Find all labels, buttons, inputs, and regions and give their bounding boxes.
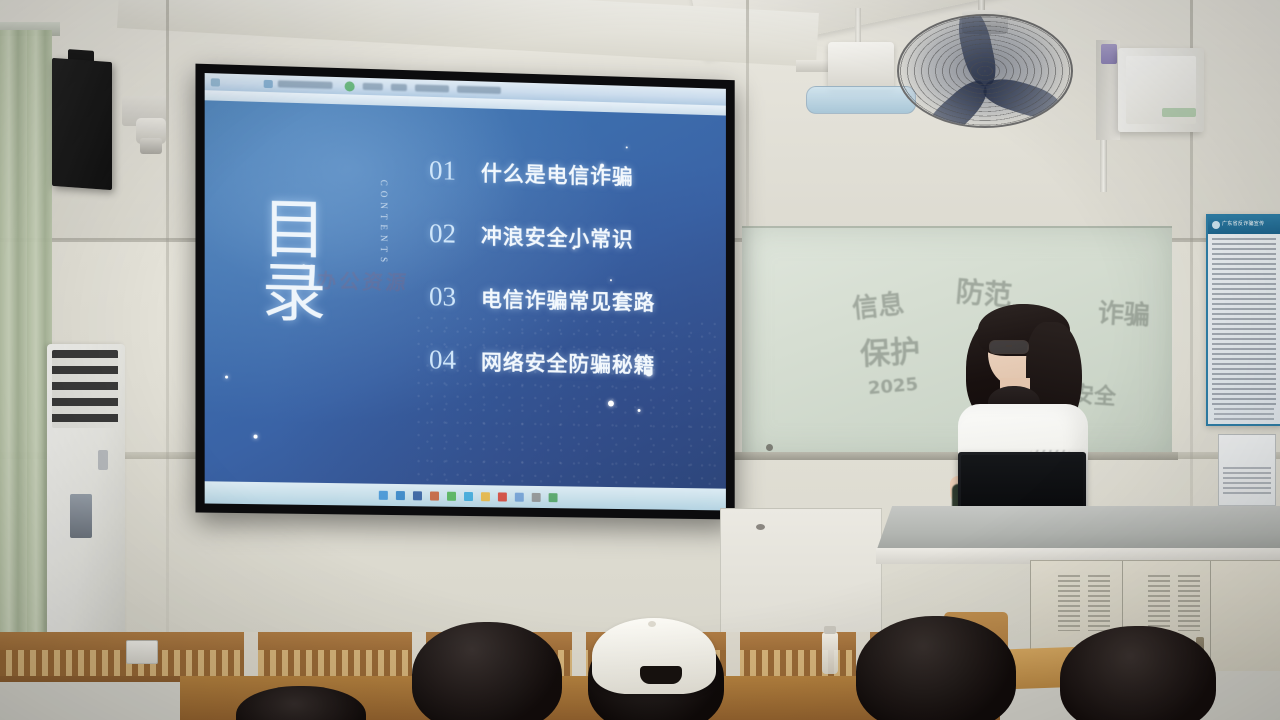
slide-toc-item-02: 02冲浪安全小常识 xyxy=(429,218,716,288)
wall-fixture xyxy=(756,524,765,530)
camera-lens-icon xyxy=(140,138,162,154)
podium-platform-top xyxy=(876,506,1280,552)
wall-speaker-black xyxy=(52,58,112,190)
status-green-icon[interactable] xyxy=(345,81,355,91)
ceiling-fan-icon xyxy=(897,14,1073,128)
student-head xyxy=(412,622,562,720)
poster-secondary-text xyxy=(1223,467,1271,497)
cap-button xyxy=(648,621,656,627)
chalk-note: 诈骗 xyxy=(1097,293,1151,333)
cap-strap xyxy=(640,666,682,684)
back-icon[interactable] xyxy=(264,80,273,88)
poster-logo-icon xyxy=(1212,221,1220,229)
cabinet-vent xyxy=(1178,575,1200,631)
wall-seam-1 xyxy=(166,0,169,640)
ac-control-panel[interactable] xyxy=(70,494,92,538)
wall-outlet[interactable] xyxy=(126,640,158,664)
chrome-icon[interactable] xyxy=(548,493,557,502)
poster-body-text xyxy=(1212,238,1276,406)
student-head xyxy=(1060,626,1216,720)
folder-icon[interactable] xyxy=(480,492,489,501)
cabinet-vent xyxy=(1058,575,1080,631)
wall-speaker-white xyxy=(1118,48,1204,132)
laptop-display[interactable] xyxy=(961,455,1083,511)
toc-number: 03 xyxy=(429,281,481,313)
projection-screen[interactable]: 办公资源 目 录 CONTENTS 01什么是电信诈骗02冲浪安全小常识03电信… xyxy=(195,64,734,520)
qq-icon[interactable] xyxy=(464,491,473,500)
window-icon[interactable] xyxy=(211,78,220,86)
ceiling-projector-icon xyxy=(828,42,894,90)
explorer-icon[interactable] xyxy=(378,490,387,499)
wall-poster-secondary xyxy=(1218,434,1276,506)
toolbar-item-2[interactable] xyxy=(391,84,407,92)
address-bar-text[interactable] xyxy=(278,80,333,89)
cabinet-divider xyxy=(1210,561,1211,671)
student-head xyxy=(856,616,1016,720)
laptop[interactable] xyxy=(958,452,1086,514)
chalk-note: 保护 xyxy=(859,326,921,373)
settings-icon[interactable] xyxy=(531,492,540,501)
ac-grille-icon xyxy=(52,350,118,428)
wall-panel xyxy=(720,508,882,642)
wall-fixture xyxy=(766,444,773,451)
air-conditioner[interactable] xyxy=(47,344,125,644)
toolbar-item-3[interactable] xyxy=(415,84,449,92)
toc-label: 冲浪安全小常识 xyxy=(481,220,634,254)
ac-display xyxy=(98,450,108,470)
bench-gap xyxy=(244,632,258,682)
glasses-icon xyxy=(989,340,1029,354)
presentation-slide[interactable]: 办公资源 目 录 CONTENTS 01什么是电信诈骗02冲浪安全小常识03电信… xyxy=(205,100,726,488)
slide-toc-item-01: 01什么是电信诈骗 xyxy=(429,155,716,225)
edge-icon[interactable] xyxy=(395,490,404,499)
chalk-note: 2025 xyxy=(867,374,919,399)
toc-number: 01 xyxy=(429,155,481,187)
cabinet-vent xyxy=(1148,575,1170,631)
window-curtain xyxy=(0,30,52,640)
slide-star xyxy=(626,146,628,148)
powerpoint-icon[interactable] xyxy=(430,491,439,500)
bottle-cap xyxy=(824,626,836,634)
toc-number: 04 xyxy=(429,344,481,376)
poster-footer-text xyxy=(1214,408,1274,420)
wall-poster: 广东省反诈骗宣传 xyxy=(1206,214,1280,426)
word-icon[interactable] xyxy=(412,491,421,500)
slide-toc-item-03: 03电信诈骗常见套路 xyxy=(429,281,716,350)
poster-header-title: 广东省反诈骗宣传 xyxy=(1222,220,1264,227)
projector-tray xyxy=(806,86,916,114)
bench-gap xyxy=(726,632,740,682)
speaker-logo xyxy=(1162,108,1196,117)
water-bottle[interactable] xyxy=(822,632,838,674)
pdf-icon[interactable] xyxy=(497,492,506,501)
slide-toc-list: 01什么是电信诈骗02冲浪安全小常识03电信诈骗常见套路04网络安全防骗秘籍 xyxy=(429,155,716,412)
slide-star xyxy=(254,435,258,439)
wall-control-badge[interactable] xyxy=(1101,44,1117,64)
media-icon[interactable] xyxy=(514,492,523,501)
slide-contents-label: CONTENTS xyxy=(379,180,389,268)
wechat-icon[interactable] xyxy=(447,491,456,500)
projected-desktop[interactable]: 办公资源 目 录 CONTENTS 01什么是电信诈骗02冲浪安全小常识03电信… xyxy=(205,73,726,510)
bench-gap xyxy=(572,632,586,682)
toolbar-item-1[interactable] xyxy=(363,83,383,91)
toc-label: 什么是电信诈骗 xyxy=(481,157,634,191)
slide-star xyxy=(225,376,228,379)
chalk-note: 信息 xyxy=(850,283,906,325)
slide-toc-item-04: 04网络安全防骗秘籍 xyxy=(429,344,716,412)
fan-guard-rings xyxy=(899,16,1071,126)
toolbar-item-4[interactable] xyxy=(457,86,501,94)
classroom-scene: 信息保护防范识别安全2025诈骗 广东省反诈骗宣传 xyxy=(0,0,1280,720)
slide-title-cn: 目 录 xyxy=(262,199,329,327)
toc-label: 电信诈骗常见套路 xyxy=(481,283,655,317)
slide-watermark: 办公资源 xyxy=(315,265,411,296)
toc-number: 02 xyxy=(429,218,481,250)
wall-seam-2 xyxy=(746,0,749,240)
cabinet-vent xyxy=(1088,575,1110,631)
toc-label: 网络安全防骗秘籍 xyxy=(481,346,655,379)
